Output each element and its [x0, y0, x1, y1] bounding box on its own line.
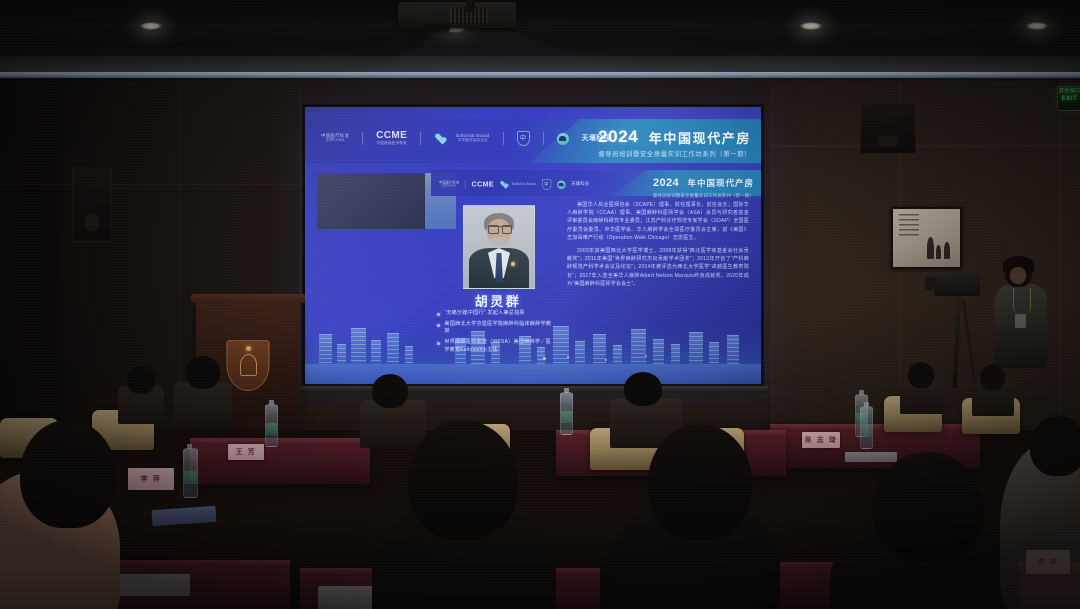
city-building	[387, 333, 399, 364]
tiantan-logo-icon	[557, 133, 569, 145]
inner-sponsor-logo-row: 中国医疗标准 世界CHSM CCME Editorial Board 天壤科技	[439, 179, 589, 190]
video-camera	[934, 272, 980, 296]
foreground-attendee-head	[648, 424, 752, 540]
water-bottle	[560, 392, 573, 435]
water-bottle	[860, 406, 873, 449]
ceiling-downlight	[800, 22, 822, 30]
speaker-bio-block: 美国华人执业医师协会（SCAPE）理事、前任理事长、前任会长；国际华人麻醉学院（…	[567, 201, 749, 293]
inner-banner-year: 2024	[653, 177, 679, 189]
operator-face	[1010, 267, 1026, 284]
logo-divider	[465, 180, 466, 189]
logo-divider	[362, 132, 363, 145]
exit-sign: 安全出口 EXIT	[1057, 86, 1080, 111]
shield-icon	[542, 179, 551, 190]
city-building	[553, 326, 569, 364]
camera-lens	[925, 277, 937, 290]
tiantan-logo-icon	[557, 180, 566, 189]
ceiling-projector	[398, 2, 516, 28]
lanyard	[1013, 288, 1031, 314]
city-building	[337, 344, 346, 364]
city-building	[319, 334, 332, 364]
city-building	[405, 346, 413, 364]
bullet-icon	[437, 313, 440, 316]
bio-paragraph: 美国华人执业医师协会（SCAPE）理事、前任理事长、前任会长；国际华人麻醉学院（…	[567, 201, 749, 242]
bullet-icon	[437, 342, 440, 345]
banner-year: 2024	[598, 127, 638, 147]
projector-lens	[424, 24, 450, 33]
sponsor-logo-row: 中国医疗标准 世界CHSM CCME 中国继续医学教育 Editorial Bo…	[321, 131, 611, 146]
inner-banner-subtitle: 督导员培训暨安全质量实训工作坊系列（第一期）	[653, 193, 754, 199]
city-building	[575, 341, 585, 364]
city-building	[709, 342, 719, 364]
lapel-pin	[511, 262, 515, 266]
projection-screen-bottom-bar	[300, 386, 768, 393]
heart-icon	[434, 134, 443, 143]
bottle-label	[266, 423, 277, 434]
glasses-lens-left	[488, 225, 499, 234]
inner-banner-title-block: 2024 年中国现代产房 督导员培训暨安全质量实训工作坊系列（第一期）	[653, 174, 754, 199]
portrait-beard	[490, 237, 509, 247]
bottle-label	[184, 471, 197, 484]
emblem-highlight	[246, 346, 251, 351]
table-edge	[190, 438, 370, 443]
city-building	[351, 328, 366, 364]
glasses-lens-right	[502, 225, 513, 234]
exit-sign-label-cn: 安全出口	[1058, 88, 1080, 94]
inner-banner-title: 年中国现代产房	[687, 177, 754, 189]
city-building	[613, 345, 622, 364]
speaker-credentials-list: “无痛分娩中国行” 发起人兼总指挥 美国西北大学芬堡医学院麻醉科临床麻醉学教授 …	[437, 310, 553, 358]
bottle-label	[861, 425, 872, 436]
city-light	[645, 355, 647, 357]
artwork-vase	[927, 237, 934, 259]
banner-title: 年中国现代产房	[649, 128, 751, 147]
table-papers	[110, 574, 190, 596]
speaker-portrait	[463, 205, 535, 289]
foreground-attendee-head	[872, 452, 984, 562]
slide-thumbnail-panel	[317, 173, 425, 229]
city-building	[653, 339, 664, 364]
wall-monitor	[860, 104, 916, 154]
camera-operator	[995, 258, 1047, 368]
logo-ccme: CCME 中国继续医学教育	[376, 131, 407, 145]
podium-top-surface	[191, 294, 305, 303]
logo-divider	[420, 132, 421, 145]
artwork-vase	[944, 242, 950, 259]
banner-title-block: 2024 年中国现代产房 督导员培训暨安全质量实训工作坊系列（第一期）	[598, 127, 751, 158]
foreground-attendee-head	[20, 420, 116, 528]
attendee-head	[127, 366, 155, 394]
attendee-head	[624, 372, 662, 406]
logo-cshm: 中国医疗标准 世界CHSM	[321, 134, 349, 142]
attendee-head	[186, 356, 220, 389]
water-bottle	[265, 404, 278, 447]
city-building	[371, 340, 381, 364]
audience-table	[190, 438, 370, 484]
city-building	[631, 329, 646, 364]
conference-room-photo: 安全出口 EXIT	[0, 0, 1080, 609]
attendee-head	[908, 362, 934, 388]
ceiling-downlight	[1026, 22, 1048, 30]
wall-speaker	[72, 166, 112, 242]
credential-item: 世界麻醉医师联盟（WFSA）美国麻醉学／医学教育Fellowship主任	[437, 339, 553, 354]
attendee-head	[372, 374, 408, 408]
inner-logo-tiantan: 天壤科技	[571, 182, 589, 187]
wall-panel	[1060, 82, 1080, 438]
projection-screen: 中国医疗标准 世界CHSM CCME 中国继续医学教育 Editorial Bo…	[305, 107, 761, 384]
city-light	[567, 356, 569, 358]
artwork-vase	[936, 245, 941, 259]
bio-paragraph: 2003年获美国西北大学医学博士、2008年获得“西北医学家基金会社会贡献奖”；…	[567, 247, 749, 288]
table-papers	[845, 452, 897, 462]
inner-slide-banner: 中国医疗标准 世界CHSM CCME Editorial Board 天壤科技 …	[431, 170, 761, 196]
table-placard: 吴 志 琦	[802, 432, 840, 448]
speaker-name: 胡灵群	[463, 291, 533, 310]
podium-emblem-icon	[227, 340, 270, 391]
inner-logo-editorial-board: Editorial Board	[512, 183, 536, 186]
city-building	[671, 344, 680, 364]
exit-sign-label-en: EXIT	[1058, 96, 1080, 102]
table-placard: 李 萍	[128, 468, 174, 490]
ceiling-soffit	[0, 22, 1080, 56]
table-edge	[770, 424, 980, 429]
slide-header-banner: 中国医疗标准 世界CHSM CCME 中国继续医学教育 Editorial Bo…	[305, 119, 761, 163]
logo-editorial-board: Editorial Board 中华医学会杂志社	[456, 134, 489, 142]
projector-mount	[466, 0, 475, 12]
city-building	[689, 332, 703, 364]
banner-subtitle: 督导员培训暨安全质量实训工作坊系列（第一期）	[598, 149, 751, 158]
city-water-reflection	[305, 364, 761, 384]
wall-panel	[60, 82, 181, 438]
wall-trim-line	[770, 146, 1080, 147]
wall-artwork	[891, 207, 962, 269]
ceiling-downlight	[140, 22, 162, 30]
foreground-attendee-head	[1030, 416, 1080, 476]
inner-logo-ccme: CCME	[472, 181, 494, 189]
logo-divider	[543, 132, 544, 145]
attendee-head	[980, 364, 1005, 390]
logo-divider	[503, 132, 504, 145]
inner-logo-cshm: 中国医疗标准 世界CHSM	[439, 181, 459, 187]
water-bottle	[183, 448, 198, 498]
artwork-calligraphy	[899, 214, 919, 236]
heart-icon	[500, 181, 506, 187]
credential-item: “无痛分娩中国行” 发起人兼总指挥	[437, 310, 553, 317]
bottle-label	[561, 411, 572, 422]
table-placard: 王 芳	[228, 444, 264, 460]
credential-item: 美国西北大学芬堡医学院麻醉科临床麻醉学教授	[437, 321, 553, 336]
badge	[1015, 314, 1026, 328]
city-building	[727, 335, 739, 364]
shield-icon	[517, 131, 530, 146]
bullet-icon	[437, 324, 440, 327]
foreground-attendee-head	[408, 420, 518, 540]
city-light	[605, 359, 607, 361]
